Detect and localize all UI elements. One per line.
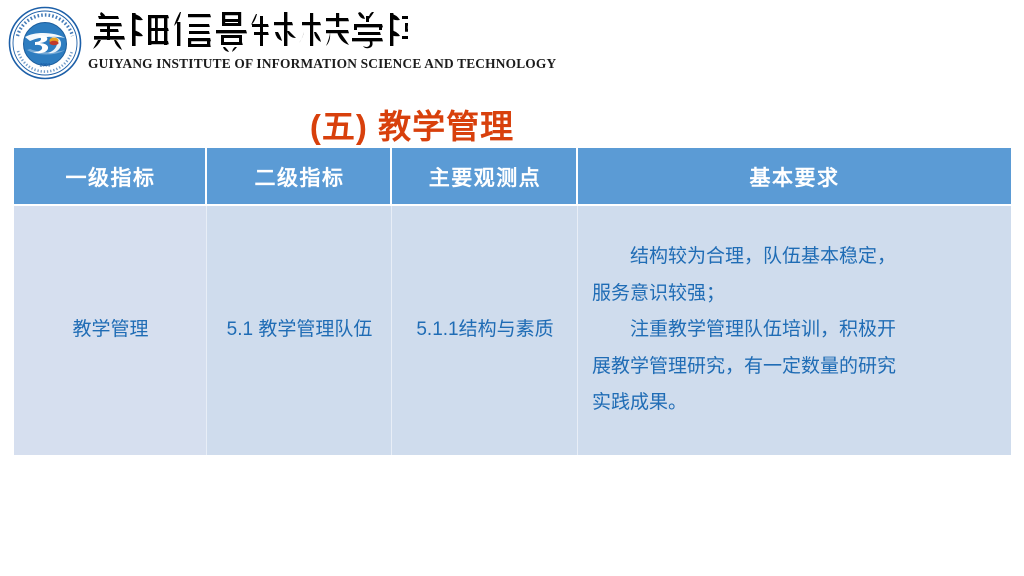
cell-observation: 5.1.1结构与素质 [392, 206, 578, 455]
university-name-cn-calligraphy [88, 4, 408, 54]
emblem-year: 2001 [40, 63, 51, 69]
cell-level2: 5.1 教学管理队伍 [207, 206, 392, 455]
table-body: 教学管理 5.1 教学管理队伍 5.1.1结构与素质 结构较为合理，队伍基本稳定… [14, 206, 1011, 455]
page-title: (五) 教学管理 [0, 100, 824, 148]
requirement-line: 结构较为合理，队伍基本稳定， [592, 239, 997, 276]
table-header-row: 一级指标 二级指标 主要观测点 基本要求 [14, 148, 1011, 206]
requirement-line: 展教学管理研究，有一定数量的研究 [592, 349, 997, 386]
column-header-observation: 主要观测点 [392, 148, 578, 206]
column-header-level2: 二级指标 [207, 148, 392, 206]
university-wordmark: GUIYANG INSTITUTE OF INFORMATION SCIENCE… [88, 4, 408, 82]
requirement-line: 服务意识较强； [592, 276, 997, 313]
requirement-line: 注重教学管理队伍培训，积极开 [592, 312, 997, 349]
column-header-level1: 一级指标 [14, 148, 207, 206]
cell-requirements: 结构较为合理，队伍基本稳定， 服务意识较强； 注重教学管理队伍培训，积极开 展教… [578, 206, 1011, 455]
cell-level1-text: 教学管理 [14, 317, 207, 344]
requirement-line: 实践成果。 [592, 385, 997, 422]
column-header-requirements: 基本要求 [578, 148, 1011, 206]
cell-level2-text: 5.1 教学管理队伍 [207, 317, 392, 344]
indicator-matrix-table: 一级指标 二级指标 主要观测点 基本要求 教学管理 5.1 教学管理队伍 5.1… [14, 148, 1011, 455]
slide-header-band: 2001 [0, 0, 1024, 88]
university-name-en: GUIYANG INSTITUTE OF INFORMATION SCIENCE… [88, 56, 405, 72]
table-row: 教学管理 5.1 教学管理队伍 5.1.1结构与素质 结构较为合理，队伍基本稳定… [14, 206, 1011, 455]
table-header: 一级指标 二级指标 主要观测点 基本要求 [14, 148, 1011, 206]
cell-level1: 教学管理 [14, 206, 207, 455]
requirements-text-block: 结构较为合理，队伍基本稳定， 服务意识较强； 注重教学管理队伍培训，积极开 展教… [592, 239, 997, 422]
university-seal-icon: 2001 [8, 6, 82, 80]
cell-observation-text: 5.1.1结构与素质 [392, 317, 578, 344]
